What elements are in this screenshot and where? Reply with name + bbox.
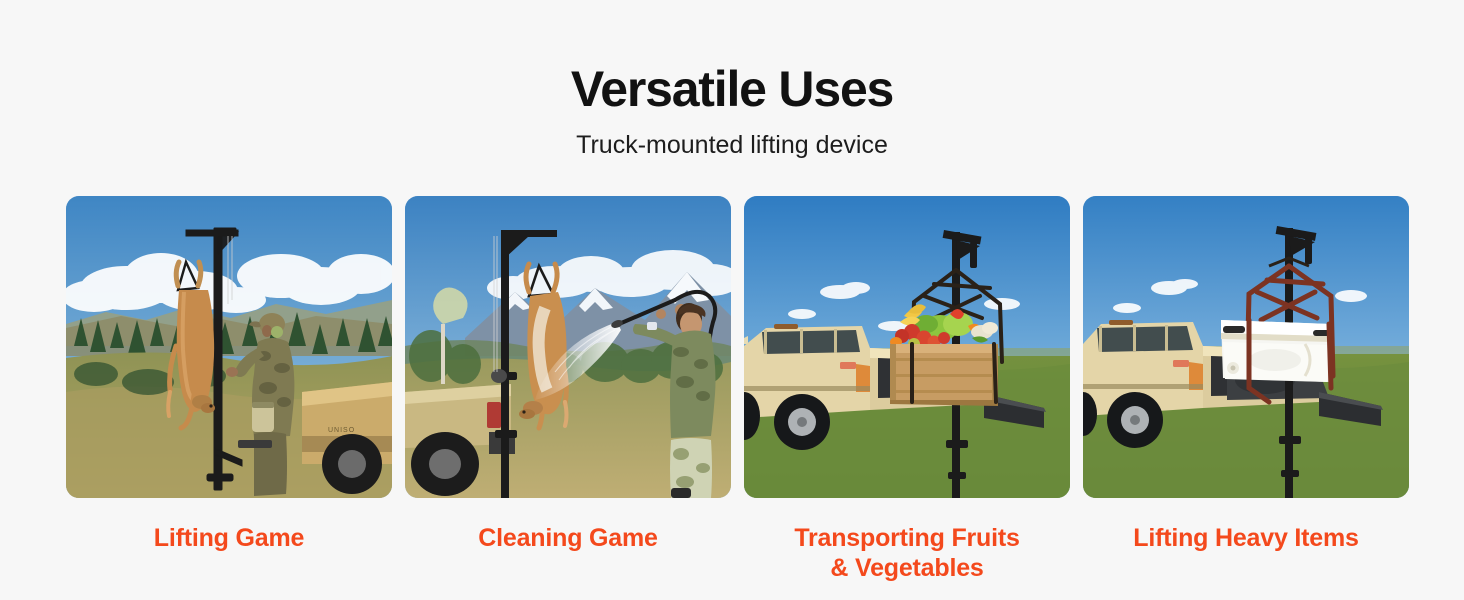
page-subtitle: Truck-mounted lifting device: [0, 130, 1464, 160]
cleaning-deer-image: [405, 196, 731, 498]
banner-header: Versatile Uses Truck-mounted lifting dev…: [0, 0, 1464, 160]
wooden-crate-shape: [890, 344, 998, 406]
use-case-panel: UNISO: [66, 196, 392, 583]
cooler-lifting-image: [1083, 196, 1409, 498]
use-case-panel-list: UNISO: [66, 196, 1414, 583]
hunter-lifting-deer-illustration: UNISO: [66, 196, 392, 498]
versatile-uses-banner: Versatile Uses Truck-mounted lifting dev…: [0, 0, 1464, 600]
use-case-panel: Cleaning Game: [405, 196, 731, 583]
produce-crate-image: [744, 196, 1070, 498]
panel-caption: Transporting Fruits & Vegetables: [794, 524, 1019, 583]
use-case-panel: Transporting Fruits & Vegetables: [744, 196, 1070, 583]
white-cooler-shape: [1221, 320, 1331, 382]
cleaning-deer-illustration: [405, 196, 731, 498]
use-case-panel: Lifting Heavy Items: [1083, 196, 1409, 583]
svg-text:UNISO: UNISO: [328, 427, 355, 434]
panel-caption: Cleaning Game: [478, 524, 657, 554]
page-title: Versatile Uses: [0, 62, 1464, 116]
panel-caption: Lifting Game: [154, 524, 304, 554]
hunter-lifting-deer-image: UNISO: [66, 196, 392, 498]
produce-crate-illustration: [744, 196, 1070, 498]
panel-caption: Lifting Heavy Items: [1133, 524, 1358, 554]
cooler-lifting-illustration: [1083, 196, 1409, 498]
